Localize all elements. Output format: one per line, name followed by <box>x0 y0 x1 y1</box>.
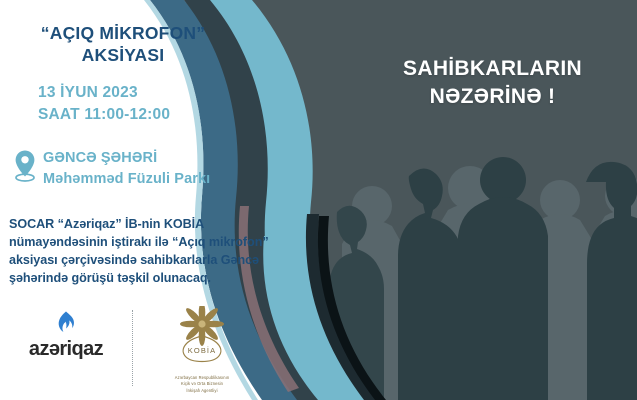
description-line-1: SOCAR “Azəriqaz” İB-nin KOBİA <box>9 216 304 234</box>
headline-line-1: SAHİBKARLARIN <box>360 55 625 83</box>
gas-flame-icon <box>16 310 116 336</box>
headline: SAHİBKARLARIN NƏZƏRİNƏ ! <box>360 55 625 112</box>
kobia-subtitle: Azərbaycan Respublikasının Kiçik və Orta… <box>148 375 256 394</box>
logo-row: azəriqaz <box>16 306 286 394</box>
kobia-flower-icon: KOBİA <box>165 355 239 372</box>
kobia-logo: KOBİA Azərbaycan Respublikasının Kiçik v… <box>148 306 256 394</box>
location-line-2: Məhəmməd Füzuli Parkı <box>43 169 210 190</box>
event-description: SOCAR “Azəriqaz” İB-nin KOBİA nümayəndəs… <box>9 216 304 288</box>
title-line-1: “AÇIQ MİKROFON” <box>41 23 205 43</box>
description-line-3: aksiyası çərçivəsində sahibkarlarla Gənc… <box>9 252 304 270</box>
logo-divider <box>132 310 134 386</box>
azeriqaz-wordmark: azəriqaz <box>16 338 116 361</box>
poster-canvas: SAHİBKARLARIN NƏZƏRİNƏ ! “AÇIQ MİKROFON”… <box>0 0 637 400</box>
svg-text:KOBİA: KOBİA <box>188 346 216 355</box>
kobia-sub-line-3: İnkişafı Agentliyi <box>148 388 256 394</box>
title-line-2: AKSİYASI <box>8 44 238 66</box>
event-time: SAAT 11:00-12:00 <box>38 104 268 126</box>
map-pin-icon <box>14 149 36 183</box>
event-datetime: 13 İYUN 2023 SAAT 11:00-12:00 <box>38 82 268 126</box>
event-location: GƏNCƏ ŞƏHƏRİ Məhəmməd Füzuli Parkı <box>14 148 274 190</box>
headline-line-2: NƏZƏRİNƏ ! <box>360 83 625 111</box>
event-date: 13 İYUN 2023 <box>38 82 268 104</box>
azeriqaz-logo: azəriqaz <box>16 306 116 361</box>
page-title: “AÇIQ MİKROFON” AKSİYASI <box>8 22 238 67</box>
location-line-1: GƏNCƏ ŞƏHƏRİ <box>43 148 210 169</box>
description-line-4: şəhərində görüşü təşkil olunacaq. <box>9 270 304 288</box>
description-line-2: nümayəndəsinin iştirakı ilə “Açıq mikrof… <box>9 234 304 252</box>
content-column: “AÇIQ MİKROFON” AKSİYASI 13 İYUN 2023 SA… <box>0 0 300 400</box>
location-text: GƏNCƏ ŞƏHƏRİ Məhəmməd Füzuli Parkı <box>43 148 210 190</box>
